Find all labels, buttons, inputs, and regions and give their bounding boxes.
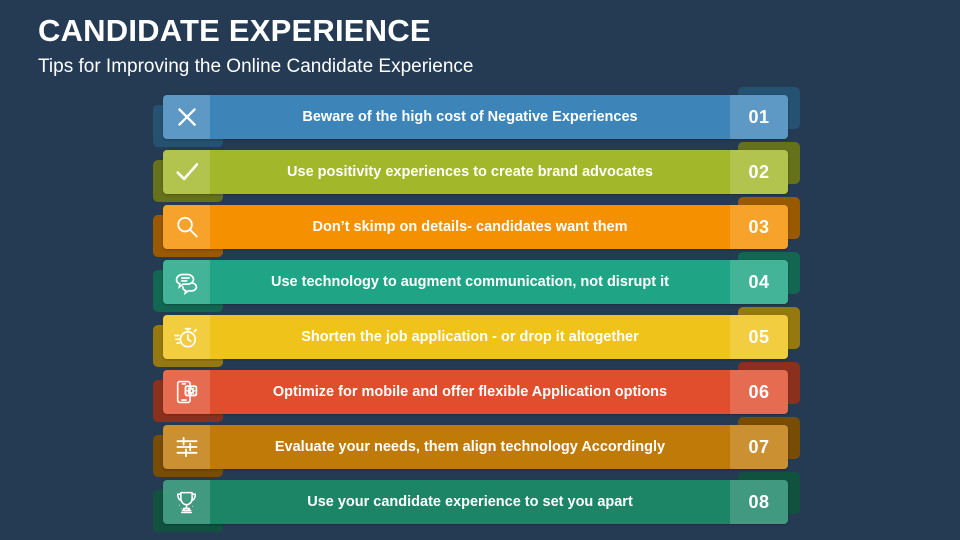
tip-row[interactable]: Evaluate your needs, them align technolo… — [0, 425, 960, 469]
mobile-settings-icon — [163, 370, 210, 414]
tip-label: Optimize for mobile and offer flexible A… — [210, 370, 730, 414]
tip-number: 01 — [730, 95, 788, 139]
tip-row[interactable]: Beware of the high cost of Negative Expe… — [0, 95, 960, 139]
tip-label: Use technology to augment communication,… — [210, 260, 730, 304]
tip-bar[interactable]: Shorten the job application - or drop it… — [163, 315, 788, 359]
tip-number: 06 — [730, 370, 788, 414]
tip-bar[interactable]: Beware of the high cost of Negative Expe… — [163, 95, 788, 139]
tip-row[interactable]: Shorten the job application - or drop it… — [0, 315, 960, 359]
check-icon — [163, 150, 210, 194]
tip-number: 08 — [730, 480, 788, 524]
tip-label: Use your candidate experience to set you… — [210, 480, 730, 524]
trophy-icon — [163, 480, 210, 524]
page-subtitle: Tips for Improving the Online Candidate … — [38, 57, 473, 78]
tip-number: 04 — [730, 260, 788, 304]
tip-bar[interactable]: Optimize for mobile and offer flexible A… — [163, 370, 788, 414]
tip-label: Use positivity experiences to create bra… — [210, 150, 730, 194]
tip-label: Shorten the job application - or drop it… — [210, 315, 730, 359]
tip-number: 07 — [730, 425, 788, 469]
sliders-icon — [163, 425, 210, 469]
cross-icon — [163, 95, 210, 139]
tip-bar[interactable]: Use your candidate experience to set you… — [163, 480, 788, 524]
tip-label: Don’t skimp on details- candidates want … — [210, 205, 730, 249]
tip-label: Beware of the high cost of Negative Expe… — [210, 95, 730, 139]
tip-number: 02 — [730, 150, 788, 194]
tip-number: 05 — [730, 315, 788, 359]
header: CANDIDATE EXPERIENCE Tips for Improving … — [38, 14, 473, 78]
tip-row[interactable]: Use technology to augment communication,… — [0, 260, 960, 304]
tips-list: Beware of the high cost of Negative Expe… — [0, 95, 960, 535]
page-title: CANDIDATE EXPERIENCE — [38, 14, 473, 48]
tip-number: 03 — [730, 205, 788, 249]
tip-bar[interactable]: Evaluate your needs, them align technolo… — [163, 425, 788, 469]
tip-bar[interactable]: Use positivity experiences to create bra… — [163, 150, 788, 194]
tip-row[interactable]: Don’t skimp on details- candidates want … — [0, 205, 960, 249]
tip-bar[interactable]: Use technology to augment communication,… — [163, 260, 788, 304]
tip-row[interactable]: Use positivity experiences to create bra… — [0, 150, 960, 194]
magnifier-icon — [163, 205, 210, 249]
tip-row[interactable]: Optimize for mobile and offer flexible A… — [0, 370, 960, 414]
stopwatch-icon — [163, 315, 210, 359]
speech-bubbles-icon — [163, 260, 210, 304]
tip-bar[interactable]: Don’t skimp on details- candidates want … — [163, 205, 788, 249]
slide: CANDIDATE EXPERIENCE Tips for Improving … — [0, 0, 960, 540]
tip-row[interactable]: Use your candidate experience to set you… — [0, 480, 960, 524]
tip-label: Evaluate your needs, them align technolo… — [210, 425, 730, 469]
